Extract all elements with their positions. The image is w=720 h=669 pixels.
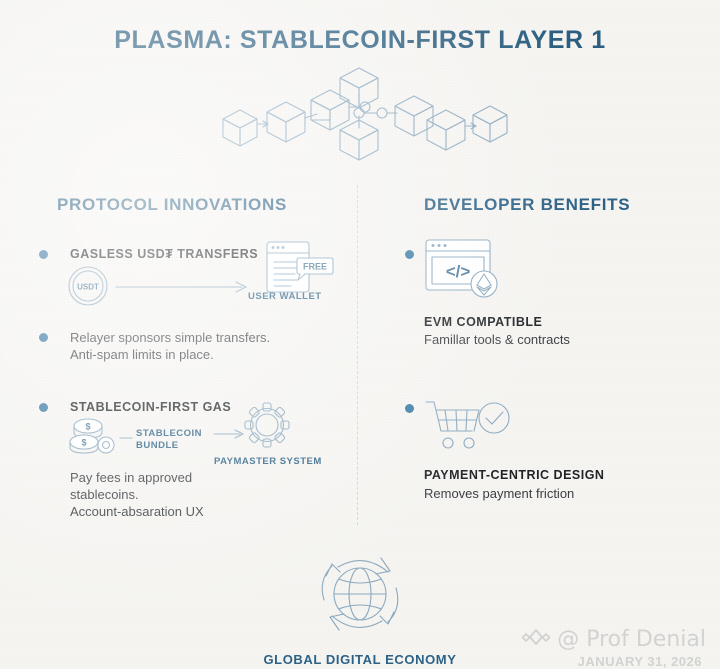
watermark-date: JANUARY 31, 2026 bbox=[578, 654, 702, 669]
infographic-canvas: PLASMA: STABLECOIN-FIRST LAYER 1 bbox=[0, 0, 720, 669]
stablecoin-bundle-label: STABLECOIN BUNDLE bbox=[136, 428, 216, 452]
connector-line-icon bbox=[120, 436, 134, 440]
bullet-dot bbox=[39, 250, 48, 259]
shopping-cart-check-icon bbox=[424, 398, 514, 454]
usdt-coin-icon: USDT bbox=[66, 265, 112, 307]
bullet-dot bbox=[39, 403, 48, 412]
svg-text:$: $ bbox=[85, 422, 90, 432]
page-title: PLASMA: STABLECOIN-FIRST LAYER 1 bbox=[0, 26, 720, 55]
right-column-heading: DEVELOPER BENEFITS bbox=[424, 195, 630, 215]
item-body-relayer: Relayer sponsors simple transfers. Anti-… bbox=[70, 329, 320, 363]
watermark: @ Prof Denial bbox=[521, 626, 706, 652]
item-title-evm-compatible: EVM COMPATIBLE bbox=[424, 315, 542, 329]
svg-text:USDT: USDT bbox=[77, 283, 99, 292]
free-badge-label: FREE bbox=[303, 262, 327, 272]
blockchain-cube-network-icon bbox=[205, 62, 515, 167]
item-title-gasless-transfers: GASLESS USD₮ TRANSFERS bbox=[70, 247, 258, 261]
stacked-coins-icon: $ $ bbox=[68, 416, 120, 458]
globe-cycle-arrows-icon bbox=[312, 550, 408, 638]
item-body-payment-centric: Removes payment friction bbox=[424, 485, 684, 502]
left-column-heading: PROTOCOL INNOVATIONS bbox=[57, 195, 287, 215]
code-glyph: </> bbox=[446, 262, 471, 281]
svg-text:$: $ bbox=[81, 438, 86, 448]
gear-icon bbox=[240, 398, 294, 452]
item-title-payment-centric: PAYMENT-CENTRIC DESIGN bbox=[424, 468, 604, 482]
column-divider bbox=[357, 185, 358, 525]
paymaster-system-label: PAYMASTER SYSTEM bbox=[214, 456, 322, 468]
bullet-dot bbox=[39, 333, 48, 342]
user-wallet-document-icon: FREE bbox=[265, 240, 335, 296]
code-window-ethereum-icon: </> bbox=[424, 238, 504, 304]
user-wallet-label: USER WALLET bbox=[248, 291, 322, 303]
diamond-rhombus-logo-icon bbox=[521, 626, 551, 652]
bullet-dot bbox=[405, 404, 414, 413]
arrow-right-icon bbox=[116, 280, 251, 294]
item-title-stablecoin-gas: STABLECOIN-FIRST GAS bbox=[70, 400, 231, 414]
watermark-handle: @ Prof Denial bbox=[557, 627, 706, 652]
item-body-evm-compatible: Famillar tools & contracts bbox=[424, 331, 684, 348]
item-body-stablecoin-gas: Pay fees in approved stablecoins. Accoun… bbox=[70, 469, 320, 520]
bullet-dot bbox=[405, 250, 414, 259]
